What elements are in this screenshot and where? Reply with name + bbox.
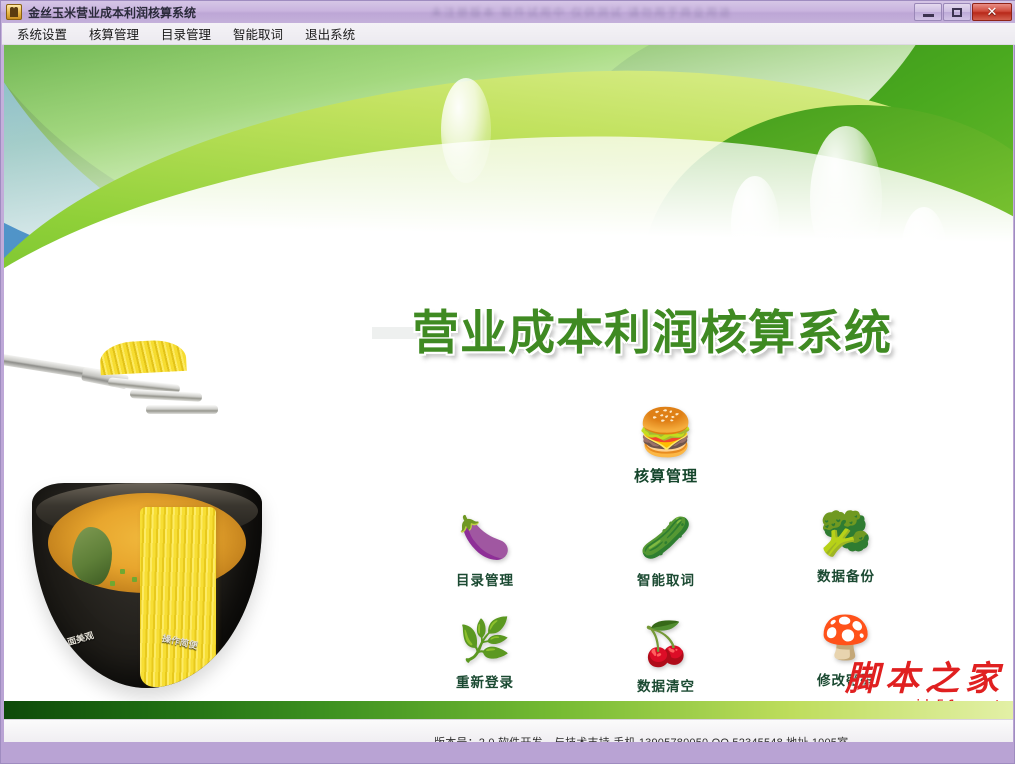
title-ghost-text: 未注册版本 软件试用中 仅供测试 请勿用于商业用途 bbox=[431, 4, 911, 18]
client-area: 营业成本利润核算系统 界面美观 bbox=[4, 45, 1013, 742]
tile-change-password[interactable]: 🍄 修改密码 bbox=[776, 615, 916, 689]
tile-smart-word[interactable]: 🥒 智能取词 bbox=[596, 515, 736, 589]
menu-system-settings[interactable]: 系统设置 bbox=[6, 21, 78, 46]
tile-clear-data[interactable]: 🍒 数据清空 bbox=[596, 621, 736, 695]
minimize-button[interactable] bbox=[914, 3, 942, 21]
tile-catalog-label: 目录管理 bbox=[415, 569, 555, 589]
title-bar: 金丝玉米营业成本利润核算系统 未注册版本 软件试用中 仅供测试 请勿用于商业用途… bbox=[1, 1, 1015, 23]
gourd-icon: 🥒 bbox=[596, 515, 736, 563]
minimize-icon bbox=[923, 14, 934, 17]
tile-backup[interactable]: 🥦 数据备份 bbox=[776, 511, 916, 585]
tile-accounting[interactable]: 🍔 核算管理 bbox=[596, 407, 736, 486]
tile-accounting-label: 核算管理 bbox=[596, 465, 736, 486]
maximize-icon bbox=[952, 8, 962, 17]
tile-smart-word-label: 智能取词 bbox=[596, 569, 736, 589]
maximize-button[interactable] bbox=[943, 3, 971, 21]
broccoli-icon: 🥦 bbox=[776, 511, 916, 559]
menu-bar: 系统设置 核算管理 目录管理 智能取词 退出系统 bbox=[2, 23, 1015, 45]
menu-smart-word[interactable]: 智能取词 bbox=[222, 21, 294, 46]
status-text: 版本号：2.0 软件开发、与技术支持 手机 13905780050 QQ 523… bbox=[434, 734, 848, 742]
tile-clear-data-label: 数据清空 bbox=[596, 675, 736, 695]
footer-gradient-bar bbox=[4, 701, 1013, 719]
application-window: 金丝玉米营业成本利润核算系统 未注册版本 软件试用中 仅供测试 请勿用于商业用途… bbox=[0, 0, 1015, 764]
tile-change-password-label: 修改密码 bbox=[776, 669, 916, 689]
icon-grid: 🍔 核算管理 🍆 目录管理 🥒 智能取词 🥦 数据备份 🌿 重新登录 🍒 bbox=[4, 45, 1013, 742]
status-bar: 版本号：2.0 软件开发、与技术支持 手机 13905780050 QQ 523… bbox=[4, 719, 1013, 742]
close-icon: ✕ bbox=[987, 4, 998, 20]
tile-backup-label: 数据备份 bbox=[776, 565, 916, 585]
window-controls: ✕ bbox=[914, 3, 1012, 21]
close-button[interactable]: ✕ bbox=[972, 3, 1012, 21]
window-title: 金丝玉米营业成本利润核算系统 bbox=[28, 4, 196, 21]
leafy-greens-icon: 🌿 bbox=[415, 617, 555, 665]
radish-icon: 🍒 bbox=[596, 621, 736, 669]
app-icon bbox=[6, 4, 22, 20]
tile-relogin[interactable]: 🌿 重新登录 bbox=[415, 617, 555, 691]
mushroom-icon: 🍄 bbox=[776, 615, 916, 663]
tile-catalog[interactable]: 🍆 目录管理 bbox=[415, 515, 555, 589]
menu-catalog[interactable]: 目录管理 bbox=[150, 21, 222, 46]
hamburger-icon: 🍔 bbox=[596, 407, 736, 459]
tile-relogin-label: 重新登录 bbox=[415, 671, 555, 691]
menu-exit[interactable]: 退出系统 bbox=[294, 21, 366, 46]
eggplant-icon: 🍆 bbox=[415, 515, 555, 563]
menu-accounting[interactable]: 核算管理 bbox=[78, 21, 150, 46]
